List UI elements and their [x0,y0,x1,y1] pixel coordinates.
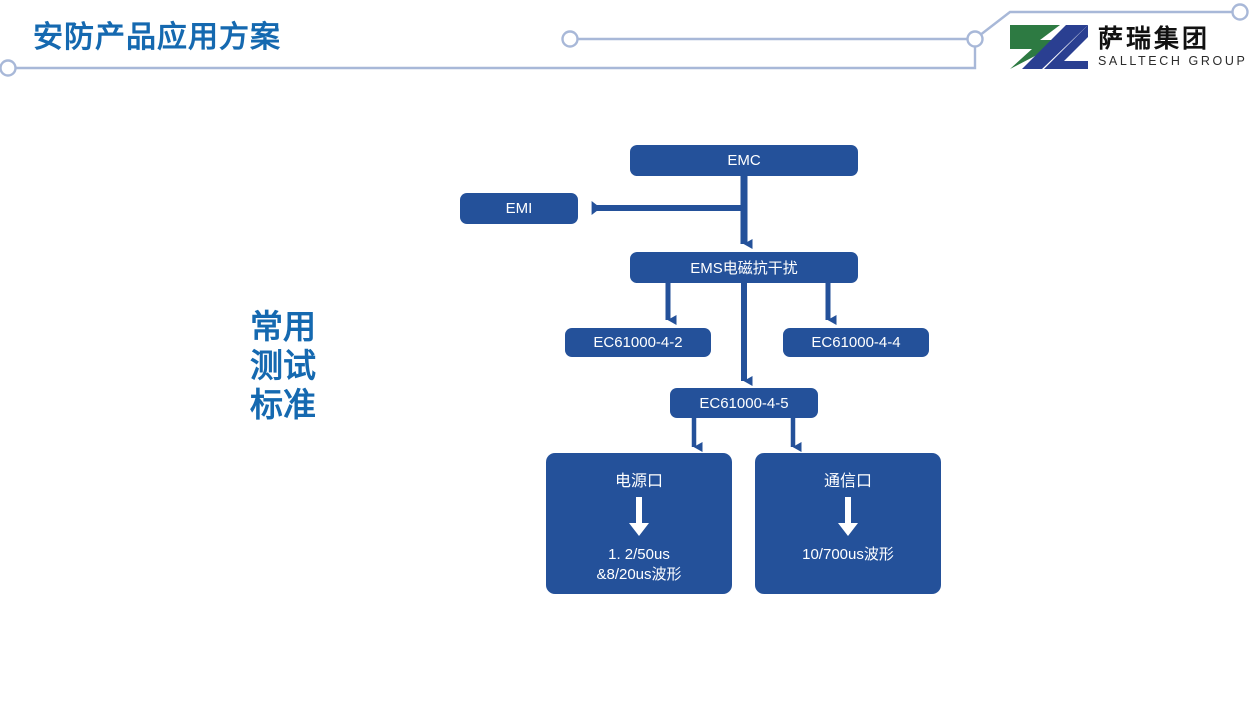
comm-port-down-arrow-icon [837,497,859,537]
flow-node-ec61000-4-2-label: EC61000-4-2 [593,334,682,351]
flow-node-ec61000-4-4[interactable]: EC61000-4-4 [783,328,929,357]
flow-node-power-port[interactable]: 电源口 1. 2/50us &8/20us波形 [546,453,732,594]
circle-right-end-icon [1233,5,1248,20]
logo-name-cn: 萨瑞集团 [1098,27,1247,52]
flow-node-emi-label: EMI [506,200,533,217]
flow-node-power-port-label: 电源口 [615,467,663,491]
flow-node-comm-port-detail: 10/700us波形 [802,545,894,565]
flow-node-emc[interactable]: EMC [630,145,858,176]
power-port-down-arrow-icon [628,497,650,537]
flow-node-ec61000-4-2[interactable]: EC61000-4-2 [565,328,711,357]
brand-logo: 萨瑞集团 SALLTECH GROUP [1008,20,1250,74]
flow-node-power-port-detail: 1. 2/50us &8/20us波形 [596,545,681,586]
flow-node-ems-label: EMS电磁抗干扰 [690,257,798,278]
salltech-logo-mark-icon [1008,23,1090,71]
circle-left-end-icon [1,61,16,76]
side-label-line-3: 标准 [250,386,336,425]
side-label-line-1: 常用 [250,308,336,347]
flow-node-comm-port[interactable]: 通信口 10/700us波形 [755,453,941,594]
flow-node-ec61000-4-4-label: EC61000-4-4 [811,334,900,351]
comm-port-detail-line-1: 10/700us波形 [802,545,894,565]
flow-node-ec61000-4-5[interactable]: EC61000-4-5 [670,388,818,418]
page-title: 安防产品应用方案 [33,12,281,56]
slide-canvas: 安防产品应用方案 萨瑞集团 SALLTECH GROUP 常用 测试 标准 [0,0,1257,704]
power-port-detail-line-1: 1. 2/50us [596,545,681,565]
side-label: 常用 测试 标准 [250,308,336,425]
flow-node-ec61000-4-5-label: EC61000-4-5 [699,395,788,412]
power-port-detail-line-2: &8/20us波形 [596,565,681,585]
side-label-line-2: 测试 [250,347,336,386]
logo-name-en: SALLTECH GROUP [1098,55,1247,68]
flow-node-emc-label: EMC [727,152,760,169]
logo-wordmark: 萨瑞集团 SALLTECH GROUP [1098,27,1247,68]
flow-node-ems[interactable]: EMS电磁抗干扰 [630,252,858,283]
circle-corner-icon [968,32,983,47]
circle-mid-upper-icon [563,32,578,47]
flow-node-emi[interactable]: EMI [460,193,578,224]
flow-node-comm-port-label: 通信口 [824,467,872,491]
